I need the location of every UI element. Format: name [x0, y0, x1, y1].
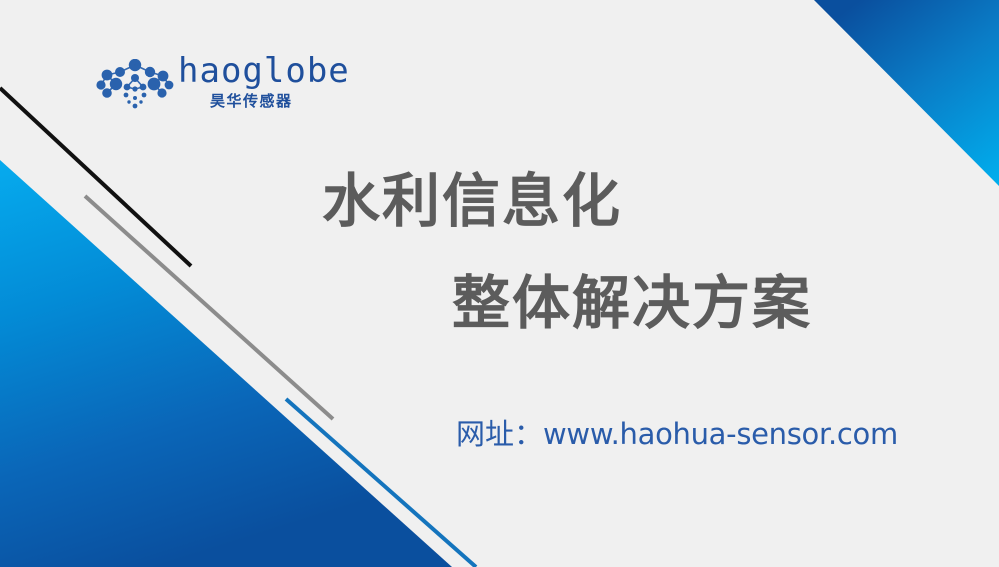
logo-subtitle-chinese: 昊华传感器: [210, 94, 293, 109]
presentation-title-slide: haoglobe 昊华传感器 水利信息化 整体解决方案 网址：www.haohu…: [0, 0, 999, 567]
haoglobe-network-dots-icon: [96, 59, 174, 111]
company-logo: haoglobe 昊华传感器: [96, 57, 326, 121]
title-line-2: 整体解决方案: [452, 274, 812, 332]
title-line-1: 水利信息化: [322, 172, 622, 230]
logo-text: haoglobe 昊华传感器: [178, 57, 328, 117]
website-url[interactable]: www.haohua-sensor.com: [543, 417, 898, 451]
logo-wordmark: haoglobe: [178, 54, 350, 88]
website-label: 网址：: [456, 417, 543, 451]
slide-title: 水利信息化 整体解决方案: [0, 162, 999, 342]
website-line: 网址：www.haohua-sensor.com: [456, 420, 898, 449]
